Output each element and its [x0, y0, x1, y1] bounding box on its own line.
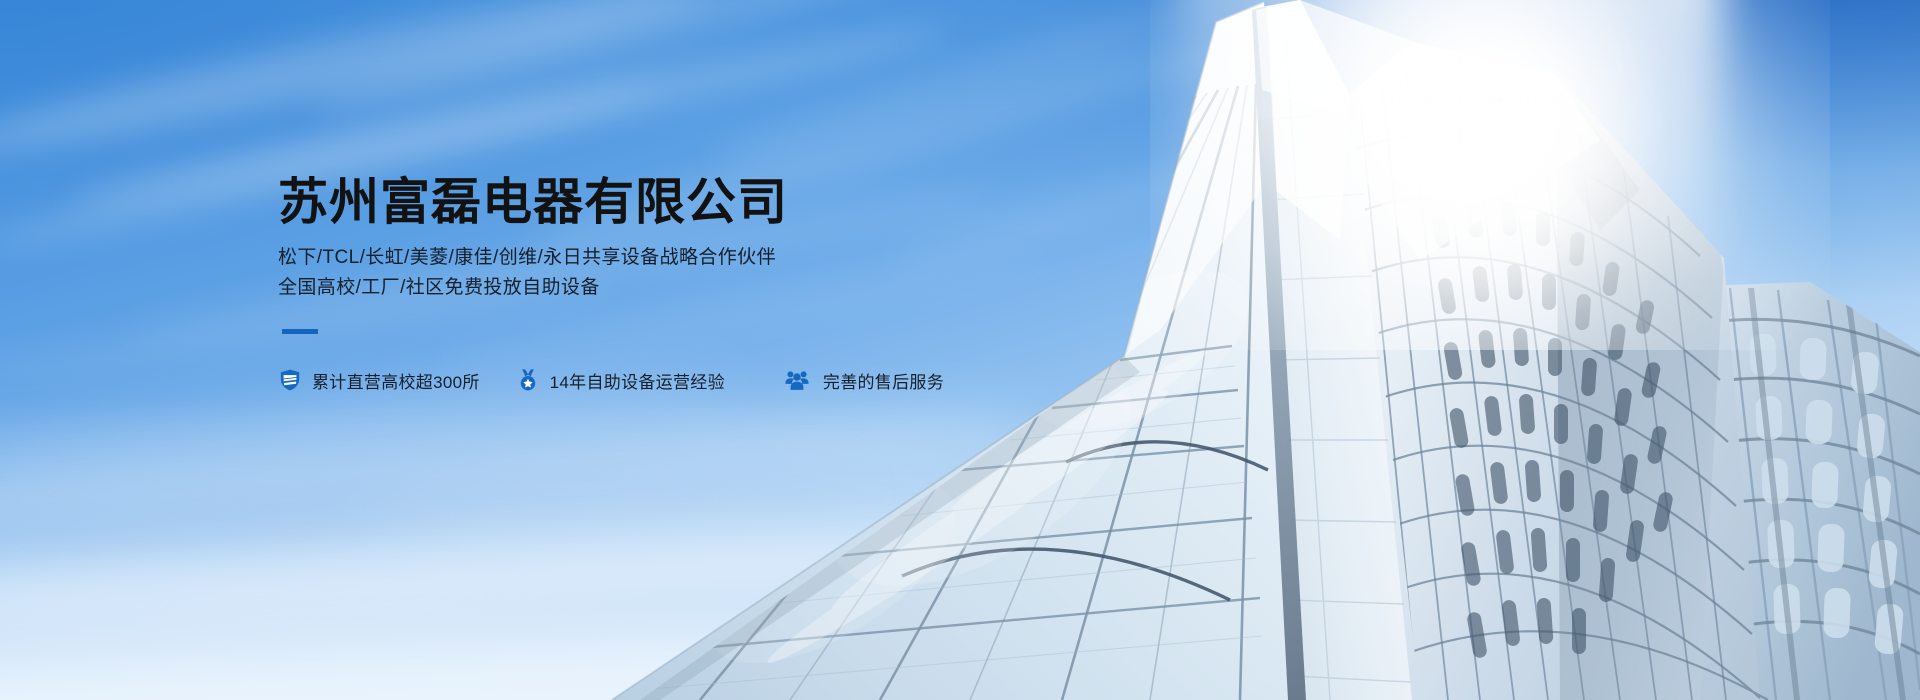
accent-divider [282, 329, 318, 334]
medal-icon [516, 368, 540, 392]
feature-item-schools: 累计直营高校超300所 [278, 368, 480, 393]
hero-banner: 苏州富磊电器有限公司 松下/TCL/长虹/美菱/康佳/创维/永日共享设备战略合作… [0, 0, 1920, 700]
building-ribbed-mid [1344, 42, 1768, 700]
feature-label: 14年自助设备运营经验 [550, 368, 725, 393]
feature-label: 累计直营高校超300所 [312, 368, 480, 393]
users-group-icon [785, 368, 809, 392]
subtitle-line-2: 全国高校/工厂/社区免费投放自助设备 [278, 273, 1178, 303]
subtitle-line-1: 松下/TCL/长虹/美菱/康佳/创维/永日共享设备战略合作伙伴 [278, 243, 1178, 273]
banner-content: 苏州富磊电器有限公司 松下/TCL/长虹/美菱/康佳/创维/永日共享设备战略合作… [278, 176, 1178, 393]
feature-label: 完善的售后服务 [823, 368, 944, 393]
shield-icon [278, 368, 302, 392]
feature-item-service: 完善的售后服务 [785, 368, 944, 393]
feature-list: 累计直营高校超300所 14年自助设备运营经验 [278, 368, 1178, 393]
page-title: 苏州富磊电器有限公司 [278, 176, 1178, 229]
feature-item-experience: 14年自助设备运营经验 [516, 368, 725, 393]
